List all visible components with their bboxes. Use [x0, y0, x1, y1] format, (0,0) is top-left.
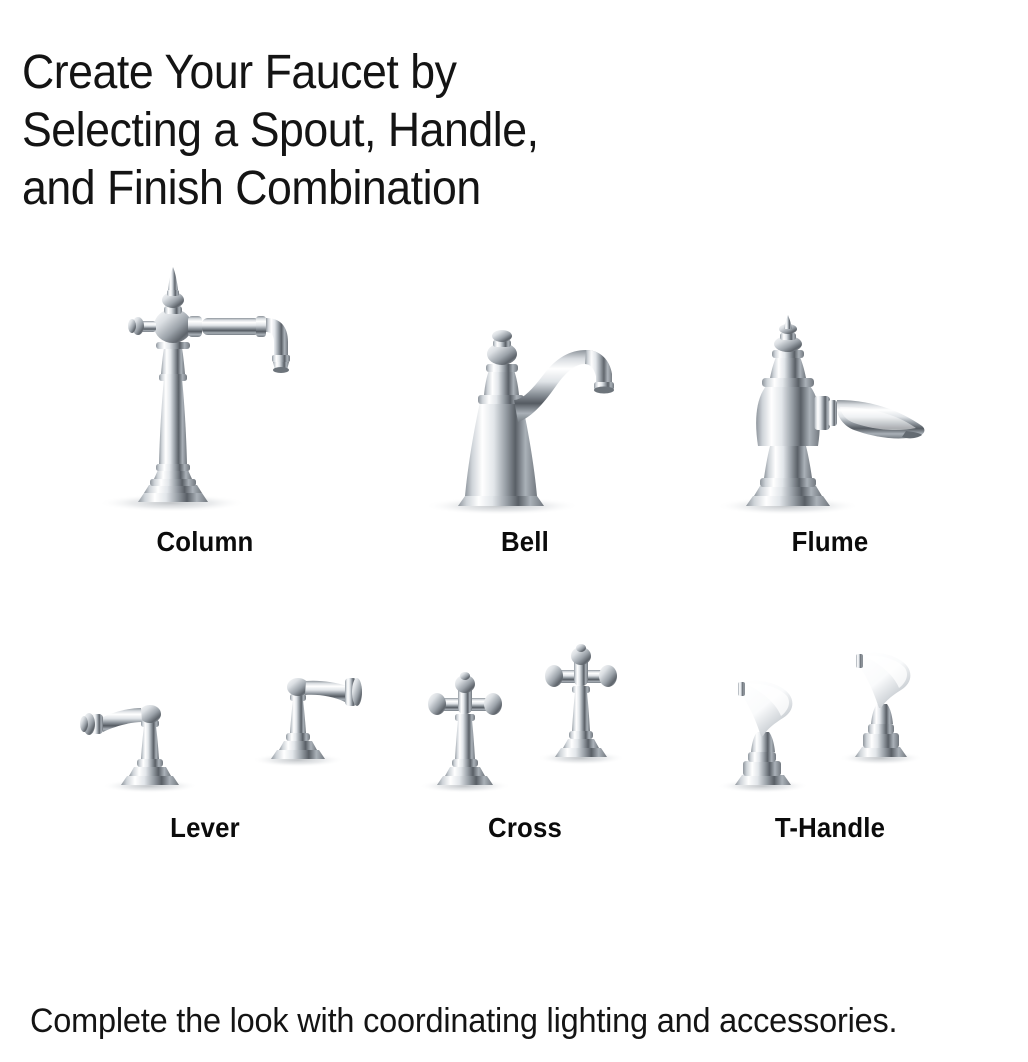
- faucet-spout-flume-icon: [700, 250, 960, 510]
- page-title: Create Your Faucet by Selecting a Spout,…: [22, 44, 766, 218]
- spout-option-bell[interactable]: Bell: [400, 250, 650, 558]
- footer-tagline: Complete the look with coordinating ligh…: [30, 1000, 975, 1042]
- handle-option-cross-label: Cross: [401, 812, 649, 844]
- handle-options-row: Lever: [0, 640, 1028, 870]
- faucet-handle-t-handle-icon: [690, 640, 970, 790]
- spout-option-flume[interactable]: Flume: [700, 250, 960, 558]
- faucet-handle-lever-icon: [40, 640, 370, 790]
- spout-option-bell-label: Bell: [410, 526, 640, 558]
- spout-option-flume-label: Flume: [710, 526, 949, 558]
- spout-options-row: Column: [0, 250, 1028, 590]
- handle-option-t-handle[interactable]: T-Handle: [690, 640, 970, 844]
- spout-option-column[interactable]: Column: [60, 250, 350, 558]
- handle-option-t-handle-label: T-Handle: [701, 812, 959, 844]
- faucet-handle-cross-icon: [390, 640, 660, 790]
- poster-root: Create Your Faucet by Selecting a Spout,…: [0, 0, 1028, 1062]
- faucet-spout-bell-icon: [400, 250, 650, 510]
- spout-option-column-label: Column: [72, 526, 339, 558]
- handle-option-lever[interactable]: Lever: [40, 640, 370, 844]
- handle-option-lever-label: Lever: [53, 812, 357, 844]
- faucet-spout-column-icon: [60, 250, 350, 510]
- handle-option-cross[interactable]: Cross: [390, 640, 660, 844]
